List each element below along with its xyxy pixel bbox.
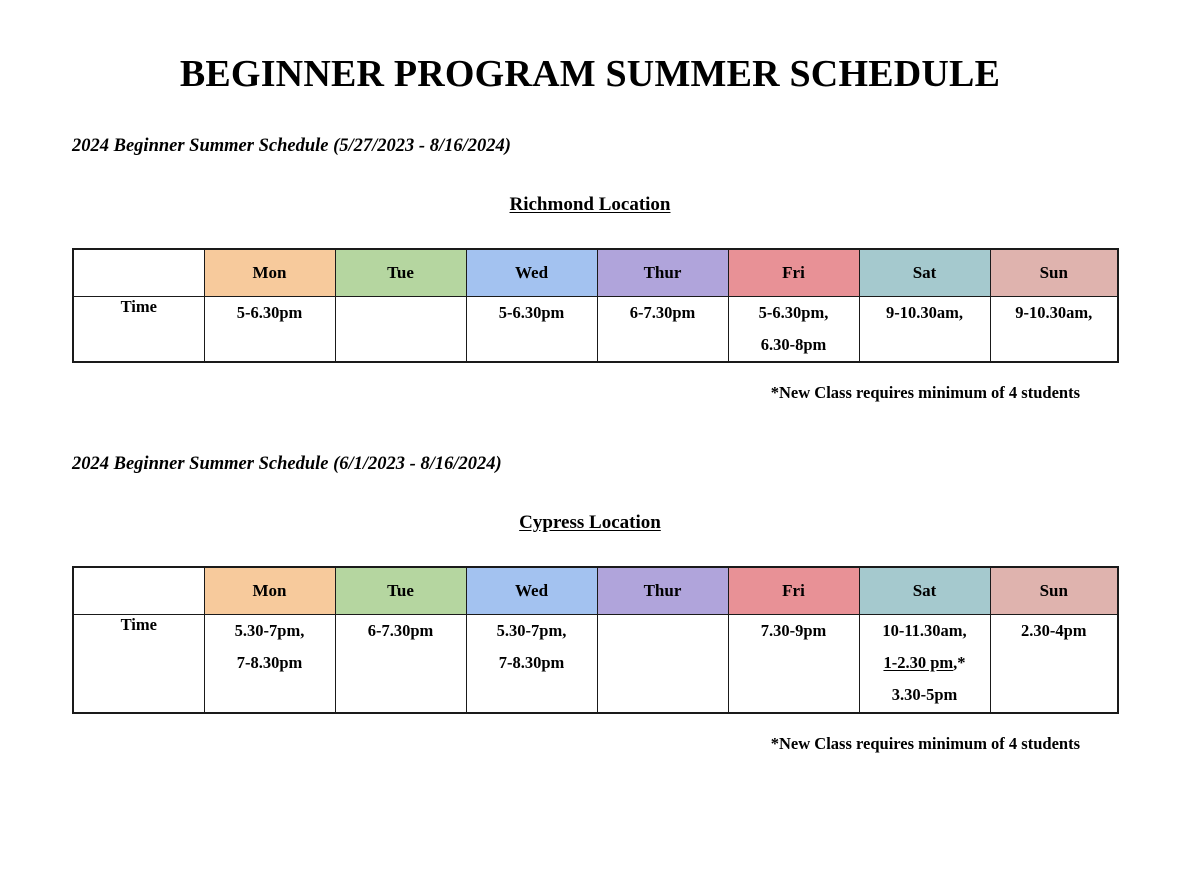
day-header-thur: Thur [597, 249, 728, 297]
footnote-cypress: *New Class requires minimum of 4 student… [0, 734, 1180, 754]
day-header-sat: Sat [859, 249, 990, 297]
day-header-sun: Sun [990, 249, 1118, 297]
day-header-fri: Fri [728, 249, 859, 297]
time-line: 5.30-7pm, [205, 615, 335, 647]
day-header-sun: Sun [990, 567, 1118, 615]
schedule-intro-richmond: 2024 Beginner Summer Schedule (5/27/2023… [0, 136, 1180, 157]
table-row: Time 5-6.30pm 5-6.30pm 6-7.30pm 5-6.30pm… [73, 296, 1118, 362]
day-header-fri: Fri [728, 567, 859, 615]
schedule-document: BEGINNER PROGRAM SUMMER SCHEDULE 2024 Be… [0, 0, 1180, 874]
table-header-row: Mon Tue Wed Thur Fri Sat Sun [73, 567, 1118, 615]
time-cell-thur: 6-7.30pm [597, 296, 728, 362]
row-label-time: Time [73, 615, 204, 713]
table-row: Time 5.30-7pm,7-8.30pm 6-7.30pm 5.30-7pm… [73, 615, 1118, 713]
footnote-richmond: *New Class requires minimum of 4 student… [0, 383, 1180, 403]
time-line: 7-8.30pm [467, 647, 597, 679]
time-cell-sat: 10-11.30am,1-2.30 pm,*3.30-5pm [859, 615, 990, 713]
time-line: 9-10.30am, [991, 297, 1118, 329]
time-line: 3.30-5pm [860, 679, 990, 711]
time-cell-fri: 5-6.30pm,6.30-8pm [728, 296, 859, 362]
spacer [0, 714, 1180, 734]
time-cell-tue: 6-7.30pm [335, 615, 466, 713]
time-cell-sun: 2.30-4pm [990, 615, 1118, 713]
time-cell-mon: 5.30-7pm,7-8.30pm [204, 615, 335, 713]
day-header-wed: Wed [466, 249, 597, 297]
location-heading-cypress-text: Cypress Location [519, 512, 661, 533]
page-title: BEGINNER PROGRAM SUMMER SCHEDULE [0, 0, 1180, 96]
location-heading-richmond: Richmond Location [0, 194, 1180, 216]
time-line: 9-10.30am, [860, 297, 990, 329]
time-line: 6-7.30pm [336, 615, 466, 647]
time-cell-sat: 9-10.30am, [859, 296, 990, 362]
time-cell-wed: 5.30-7pm,7-8.30pm [466, 615, 597, 713]
time-cell-tue [335, 296, 466, 362]
time-line: 10-11.30am, [860, 615, 990, 647]
schedule-table-cypress: Mon Tue Wed Thur Fri Sat Sun Time 5.30-7… [72, 566, 1119, 714]
spacer [0, 157, 1180, 194]
day-header-tue: Tue [335, 249, 466, 297]
day-header-tue: Tue [335, 567, 466, 615]
time-line: 2.30-4pm [991, 615, 1118, 647]
spacer [0, 403, 1180, 454]
location-heading-richmond-text: Richmond Location [510, 194, 671, 215]
spacer [0, 534, 1180, 566]
day-header-sat: Sat [859, 567, 990, 615]
spacer [0, 96, 1180, 136]
time-line: 5.30-7pm, [467, 615, 597, 647]
corner-cell [73, 567, 204, 615]
time-cell-thur [597, 615, 728, 713]
time-cell-mon: 5-6.30pm [204, 296, 335, 362]
row-label-time: Time [73, 296, 204, 362]
table-header-row: Mon Tue Wed Thur Fri Sat Sun [73, 249, 1118, 297]
time-line: 5-6.30pm, [729, 297, 859, 329]
spacer [0, 363, 1180, 383]
day-header-thur: Thur [597, 567, 728, 615]
time-line: 5-6.30pm [467, 297, 597, 329]
time-line: 1-2.30 pm,* [860, 647, 990, 679]
time-cell-sun: 9-10.30am, [990, 296, 1118, 362]
time-line: 7.30-9pm [729, 615, 859, 647]
day-header-mon: Mon [204, 567, 335, 615]
time-cell-wed: 5-6.30pm [466, 296, 597, 362]
location-heading-cypress: Cypress Location [0, 512, 1180, 534]
time-cell-fri: 7.30-9pm [728, 615, 859, 713]
schedule-intro-cypress: 2024 Beginner Summer Schedule (6/1/2023 … [0, 454, 1180, 475]
corner-cell [73, 249, 204, 297]
schedule-table-richmond: Mon Tue Wed Thur Fri Sat Sun Time 5-6.30… [72, 248, 1119, 363]
time-line: 6-7.30pm [598, 297, 728, 329]
day-header-wed: Wed [466, 567, 597, 615]
day-header-mon: Mon [204, 249, 335, 297]
spacer [0, 216, 1180, 248]
time-line: 7-8.30pm [205, 647, 335, 679]
time-line-underlined: 1-2.30 pm [883, 653, 953, 672]
time-line: 5-6.30pm [205, 297, 335, 329]
spacer [0, 475, 1180, 512]
time-line: 6.30-8pm [729, 329, 859, 361]
